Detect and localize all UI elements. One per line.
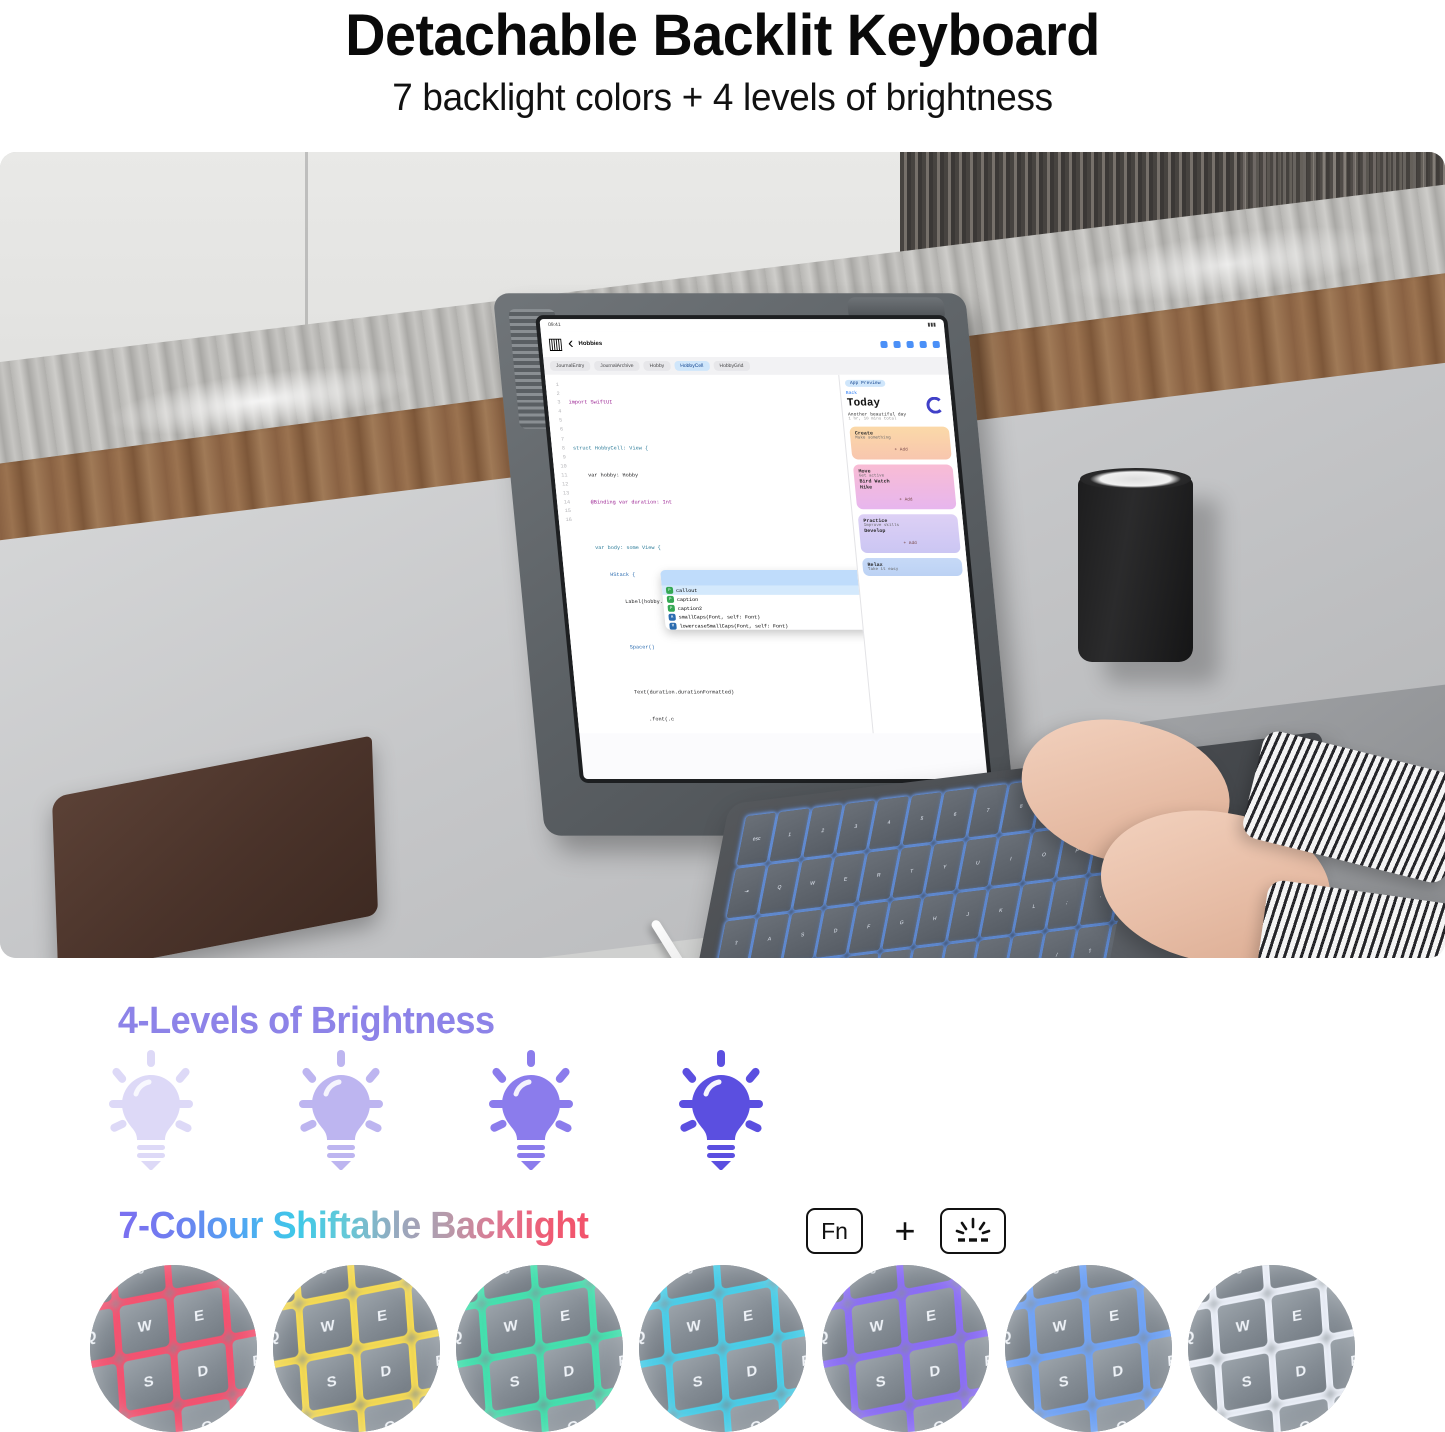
preview-card[interactable]: Practice Improve skills Develop + Add (858, 514, 961, 553)
brightness-level-2 (286, 1050, 396, 1170)
page-subtitle: 7 backlight colors + 4 levels of brightn… (22, 77, 1424, 120)
key-4: 4 (1084, 1265, 1135, 1289)
key-q: Q (273, 1308, 299, 1366)
autocomplete-item[interactable]: M lowercaseSmallCaps(Font, self: Font) (665, 622, 877, 630)
key-f: F (780, 1332, 806, 1390)
keyboard-key-capslock[interactable]: ⇪ (716, 917, 756, 958)
key-2: 2 (639, 1265, 661, 1310)
key-4: 4 (535, 1265, 586, 1289)
card-subtitle: Make something (855, 437, 945, 441)
key-x: X (1042, 1408, 1093, 1432)
key-v: V (967, 1387, 989, 1432)
key-3: 3 (115, 1265, 166, 1299)
key-v: V (601, 1387, 623, 1432)
product-infographic-page: Detachable Backlit Keyboard 7 backlight … (0, 0, 1445, 1432)
key-q: Q (639, 1308, 665, 1366)
run-icon[interactable] (880, 341, 888, 348)
key-s: S (1038, 1353, 1089, 1411)
key-4: 4 (901, 1265, 952, 1289)
keyboard-key[interactable]: , (971, 937, 1011, 958)
key-r: R (1325, 1276, 1355, 1334)
key-w: W (302, 1297, 353, 1355)
key-d: D (909, 1342, 960, 1400)
backlight-colour-swatches: 2 3 4 5 Q W E R A S D F Z X C V 2 3 (0, 1265, 1445, 1432)
key-e: E (722, 1287, 773, 1345)
key-f: F (414, 1332, 440, 1390)
key-v: V (1333, 1387, 1355, 1432)
card-add-button[interactable]: + Add (865, 538, 955, 549)
key-w: W (485, 1297, 536, 1355)
card-title: Hike (860, 484, 950, 490)
key-r: R (593, 1276, 623, 1334)
colour-swatch-blue: 2 3 4 5 Q W E R A S D F Z X C V (1005, 1265, 1172, 1432)
line-number: 6 (550, 426, 564, 435)
property-badge-icon: P (667, 605, 675, 612)
line-number: 12 (555, 480, 569, 489)
key-d: D (726, 1342, 777, 1400)
line-number: 8 (552, 444, 566, 453)
line-number: 11 (554, 471, 568, 480)
keyboard-key[interactable]: V (838, 953, 878, 958)
key-d: D (177, 1342, 228, 1400)
preview-back-link[interactable]: Back (846, 391, 946, 396)
key-s: S (672, 1353, 723, 1411)
hero-product-photo: 09:41 ▮▮▮ ▥ ‹ Hobbies Jou (0, 152, 1445, 958)
key-x: X (493, 1408, 544, 1432)
colour-swatch-green: 2 3 4 5 Q W E R A S D F Z X C V (456, 1265, 623, 1432)
key-x: X (676, 1408, 727, 1432)
autocomplete-item[interactable]: P callout (662, 586, 874, 595)
back-chevron-icon[interactable]: ‹ (567, 335, 574, 353)
key-3: 3 (1030, 1265, 1081, 1299)
colour-swatch-white: 2 3 4 5 Q W E R A S D F Z X C V (1188, 1265, 1355, 1432)
autocomplete-popup[interactable]: P callout P caption P caption2 (660, 570, 877, 630)
key-a: A (273, 1363, 303, 1421)
property-badge-icon: P (666, 587, 674, 594)
key-x: X (859, 1408, 910, 1432)
key-c: C (1279, 1398, 1330, 1432)
autocomplete-label: caption2 (678, 605, 703, 611)
key-a: A (822, 1363, 852, 1421)
key-a: A (639, 1363, 669, 1421)
brightness-levels (96, 1050, 816, 1170)
key-d: D (543, 1342, 594, 1400)
keyboard-closeup: 2 3 4 5 Q W E R A S D F Z X C V (456, 1265, 623, 1432)
key-a: A (1188, 1363, 1218, 1421)
preview-pill-badge: App Preview (845, 380, 886, 387)
key-r: R (776, 1276, 806, 1334)
key-z: Z (822, 1419, 855, 1432)
key-c: C (730, 1398, 781, 1432)
key-3: 3 (664, 1265, 715, 1299)
autocomplete-label: caption (677, 596, 699, 602)
lightbulb-icon (286, 1050, 396, 1170)
status-time: 09:41 (548, 322, 561, 328)
lightbulb-icon (96, 1050, 206, 1170)
card-add-button[interactable]: + Add (861, 494, 951, 505)
key-2: 2 (456, 1265, 478, 1310)
autocomplete-list: P callout P caption P caption2 (662, 586, 877, 630)
key-s: S (306, 1353, 357, 1411)
layout-icon[interactable] (906, 341, 914, 348)
key-d: D (1092, 1342, 1143, 1400)
status-bar: 09:41 ▮▮▮ (539, 319, 944, 331)
editor-nav-title: Hobbies (578, 341, 602, 347)
line-number: 15 (558, 508, 572, 517)
preview-card[interactable]: Create Make something + Add (849, 427, 952, 460)
status-icons: ▮▮▮ (927, 322, 936, 328)
keyboard-closeup: 2 3 4 5 Q W E R A S D F Z X C V (1188, 1265, 1355, 1432)
keyboard-closeup: 2 3 4 5 Q W E R A S D F Z X C V (90, 1265, 257, 1432)
tablet-screen: 09:41 ▮▮▮ ▥ ‹ Hobbies Jou (535, 315, 992, 783)
key-4: 4 (352, 1265, 403, 1289)
keyboard-closeup: 2 3 4 5 Q W E R A S D F Z X C V (822, 1265, 989, 1432)
key-d: D (1275, 1342, 1326, 1400)
coffee-mug (1078, 477, 1193, 662)
key-4: 4 (1267, 1265, 1318, 1289)
brightness-level-4 (666, 1050, 776, 1170)
keyboard-closeup: 2 3 4 5 Q W E R A S D F Z X C V (1005, 1265, 1172, 1432)
key-q: Q (90, 1308, 116, 1366)
key-s: S (855, 1353, 906, 1411)
key-w: W (1034, 1297, 1085, 1355)
key-2: 2 (90, 1265, 112, 1310)
key-f: F (1146, 1332, 1172, 1390)
key-r: R (1142, 1276, 1172, 1334)
key-3: 3 (481, 1265, 532, 1299)
key-s: S (1221, 1353, 1272, 1411)
key-w: W (119, 1297, 170, 1355)
key-e: E (1088, 1287, 1139, 1345)
line-number: 14 (557, 499, 571, 508)
key-z: Z (273, 1419, 306, 1432)
sidebar-toggle-icon[interactable]: ▥ (547, 334, 564, 354)
key-e: E (905, 1287, 956, 1345)
keyboard-key[interactable]: M (938, 941, 978, 958)
key-4: 4 (718, 1265, 769, 1289)
colour-swatch-cyan: 2 3 4 5 Q W E R A S D F Z X C V (639, 1265, 806, 1432)
colour-swatch-red: 2 3 4 5 Q W E R A S D F Z X C V (90, 1265, 257, 1432)
line-number: 9 (552, 453, 566, 462)
key-5: 5 (956, 1265, 989, 1278)
key-d: D (360, 1342, 411, 1400)
line-number: 7 (551, 435, 565, 444)
colour-section-title: 7-Colour Shiftable Backlight (118, 1205, 588, 1248)
key-x: X (310, 1408, 361, 1432)
key-r: R (227, 1276, 257, 1334)
key-c: C (913, 1398, 964, 1432)
key-5: 5 (407, 1265, 440, 1278)
file-tab-active[interactable]: HobbyCell (674, 361, 710, 371)
file-tab[interactable]: HobbyGrid (713, 361, 750, 371)
file-tab[interactable]: Hobby (643, 361, 671, 371)
brightness-section-title: 4-Levels of Brightness (118, 1000, 495, 1043)
key-3: 3 (847, 1265, 898, 1299)
autocomplete-label: smallCaps(Font, self: Font) (678, 614, 760, 620)
preview-meta: 1 hr, 10 mins total (848, 418, 948, 422)
key-3: 3 (298, 1265, 349, 1299)
key-f: F (231, 1332, 257, 1390)
autocomplete-item[interactable]: P caption2 (663, 604, 875, 613)
key-4: 4 (169, 1265, 220, 1289)
header: Detachable Backlit Keyboard 7 backlight … (0, 0, 1445, 120)
preview-card[interactable]: Relax Take it easy (862, 558, 963, 576)
key-v: V (784, 1387, 806, 1432)
key-e: E (356, 1287, 407, 1345)
code-editor[interactable]: 1 2 3 4 5 6 7 8 9 10 11 12 13 14 (545, 375, 983, 733)
brightness-level-1 (96, 1050, 206, 1170)
settings-icon[interactable] (932, 341, 940, 348)
key-5: 5 (590, 1265, 623, 1278)
key-e: E (539, 1287, 590, 1345)
editor-toolbar (880, 341, 940, 348)
line-number: 16 (559, 517, 573, 526)
card-subtitle: Take it easy (868, 568, 958, 572)
key-c: C (547, 1398, 598, 1432)
key-s: S (123, 1353, 174, 1411)
fn-key-badge: Fn (806, 1208, 863, 1254)
line-number: 4 (548, 408, 562, 417)
key-c: C (181, 1398, 232, 1432)
key-z: Z (639, 1419, 672, 1432)
key-c: C (364, 1398, 415, 1432)
line-number: 2 (546, 390, 560, 399)
key-2: 2 (1188, 1265, 1210, 1310)
line-number: 5 (549, 417, 563, 426)
autocomplete-item[interactable]: P caption (662, 595, 874, 604)
tablet-folio-case: 09:41 ▮▮▮ ▥ ‹ Hobbies Jou (493, 293, 1017, 835)
card-title: Develop (864, 528, 954, 534)
file-tab-bar: JournalEntry JournalArchive Hobby HobbyC… (543, 357, 949, 375)
editor-nav-row: ▥ ‹ Hobbies (541, 331, 947, 357)
keyboard-key[interactable]: A (749, 913, 789, 958)
method-badge-icon: M (668, 614, 676, 621)
lightbulb-icon (666, 1050, 776, 1170)
autocomplete-header (660, 570, 873, 586)
page-title: Detachable Backlit Keyboard (29, 6, 1416, 65)
key-w: W (668, 1297, 719, 1355)
key-5: 5 (773, 1265, 806, 1278)
key-z: Z (90, 1419, 123, 1432)
backlight-key-icon (953, 1216, 993, 1246)
key-z: Z (1005, 1419, 1038, 1432)
key-w: W (851, 1297, 902, 1355)
key-x: X (1225, 1408, 1276, 1432)
key-q: Q (1005, 1308, 1031, 1366)
key-5: 5 (1139, 1265, 1172, 1278)
keyboard-closeup: 2 3 4 5 Q W E R A S D F Z X C V (639, 1265, 806, 1432)
file-tab[interactable]: JournalEntry (550, 361, 591, 371)
key-z: Z (456, 1419, 489, 1432)
key-x: X (127, 1408, 178, 1432)
key-2: 2 (1005, 1265, 1027, 1310)
key-f: F (963, 1332, 989, 1390)
keyboard-closeup: 2 3 4 5 Q W E R A S D F Z X C V (273, 1265, 440, 1432)
help-icon[interactable] (919, 341, 927, 348)
line-number: 13 (556, 489, 570, 498)
key-e: E (173, 1287, 224, 1345)
card-add-button[interactable]: + Add (856, 445, 946, 456)
key-a: A (1005, 1363, 1035, 1421)
key-f: F (1329, 1332, 1355, 1390)
key-v: V (418, 1387, 440, 1432)
line-number: 10 (553, 462, 567, 471)
key-v: V (1150, 1387, 1172, 1432)
key-f: F (597, 1332, 623, 1390)
line-number: 1 (545, 381, 559, 390)
lightbulb-icon (476, 1050, 586, 1170)
preview-card[interactable]: Move Get active Bird Watch Hike + Add (853, 464, 957, 509)
preview-icon[interactable] (893, 341, 901, 348)
autocomplete-item[interactable]: M smallCaps(Font, self: Font) (664, 613, 876, 622)
key-2: 2 (822, 1265, 844, 1310)
colour-swatch-purple: 2 3 4 5 Q W E R A S D F Z X C V (822, 1265, 989, 1432)
key-z: Z (1188, 1419, 1221, 1432)
file-tab[interactable]: JournalArchive (594, 361, 640, 371)
key-a: A (456, 1363, 486, 1421)
autocomplete-label: callout (676, 587, 698, 593)
plus-sign: + (884, 1208, 926, 1254)
key-r: R (959, 1276, 989, 1334)
line-number: 3 (547, 399, 561, 408)
brightness-level-3 (476, 1050, 586, 1170)
key-5: 5 (224, 1265, 257, 1278)
key-2: 2 (273, 1265, 295, 1310)
method-badge-icon: M (669, 623, 677, 630)
backlight-key-badge (940, 1208, 1006, 1254)
key-w: W (1217, 1297, 1268, 1355)
key-q: Q (456, 1308, 482, 1366)
key-r: R (410, 1276, 440, 1334)
key-e: E (1271, 1287, 1322, 1345)
key-s: S (489, 1353, 540, 1411)
autocomplete-label: lowercaseSmallCaps(Font, self: Font) (679, 623, 788, 629)
key-v: V (235, 1387, 257, 1432)
key-q: Q (1188, 1308, 1214, 1366)
key-5: 5 (1322, 1265, 1355, 1278)
property-badge-icon: P (667, 596, 675, 603)
key-a: A (90, 1363, 120, 1421)
colour-swatch-yellow: 2 3 4 5 Q W E R A S D F Z X C V (273, 1265, 440, 1432)
key-c: C (1096, 1398, 1147, 1432)
key-q: Q (822, 1308, 848, 1366)
key-3: 3 (1213, 1265, 1264, 1299)
